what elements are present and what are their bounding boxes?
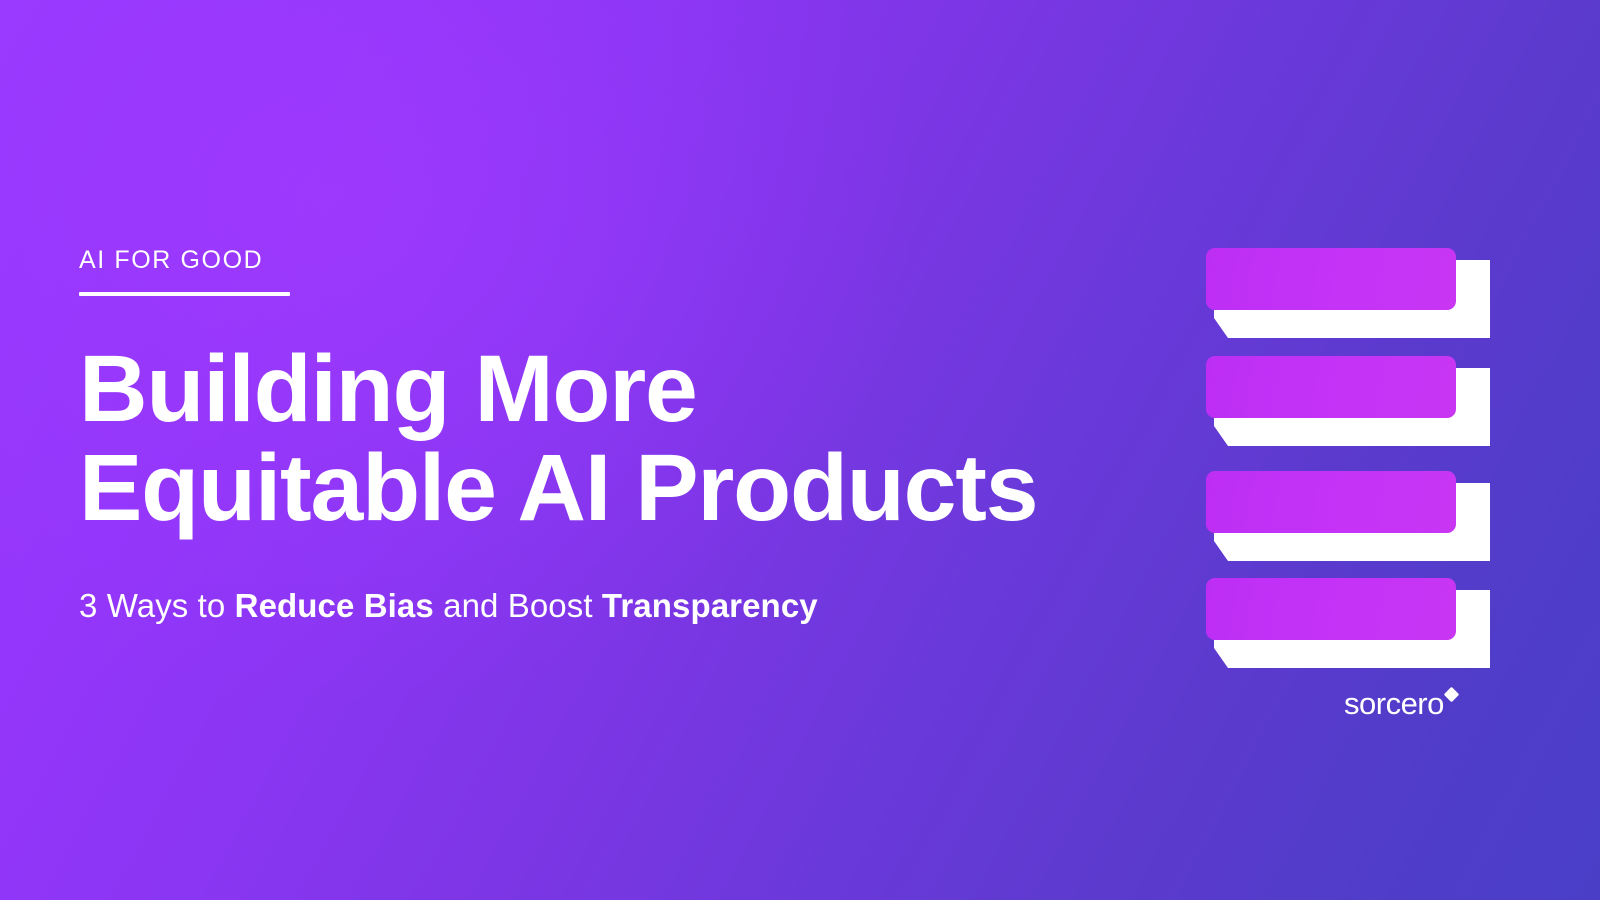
- eyebrow-label: AI FOR GOOD: [79, 248, 1099, 273]
- logo-bar-fill: [1206, 578, 1456, 640]
- logo-bar-fill: [1206, 471, 1456, 533]
- logo-bar-fill: [1206, 356, 1456, 418]
- subtitle-part-2: and Boost: [434, 587, 602, 624]
- sorcero-logo-mark: [1206, 248, 1490, 668]
- eyebrow-underline-rule: [79, 292, 290, 296]
- brand-name-label: sorcero: [1344, 688, 1444, 719]
- brand-wordmark: sorcero: [1344, 688, 1457, 722]
- page-title: Building More Equitable AI Products: [79, 340, 1099, 538]
- subtitle: 3 Ways to Reduce Bias and Boost Transpar…: [79, 586, 1099, 626]
- logo-bar: [1206, 356, 1490, 446]
- headline-line-1: Building More: [79, 340, 1099, 439]
- logo-bar-fill: [1206, 248, 1456, 310]
- logo-bar: [1206, 471, 1490, 561]
- logo-bar: [1206, 578, 1490, 668]
- logo-bar: [1206, 248, 1490, 338]
- marketing-banner: AI FOR GOOD Building More Equitable AI P…: [0, 0, 1600, 900]
- subtitle-part-1: 3 Ways to: [79, 587, 235, 624]
- subtitle-emphasis-1: Reduce Bias: [235, 587, 434, 624]
- headline-line-2: Equitable AI Products: [79, 439, 1099, 538]
- diamond-icon: [1444, 687, 1460, 703]
- headline-block: AI FOR GOOD Building More Equitable AI P…: [79, 248, 1099, 626]
- subtitle-emphasis-2: Transparency: [602, 587, 818, 624]
